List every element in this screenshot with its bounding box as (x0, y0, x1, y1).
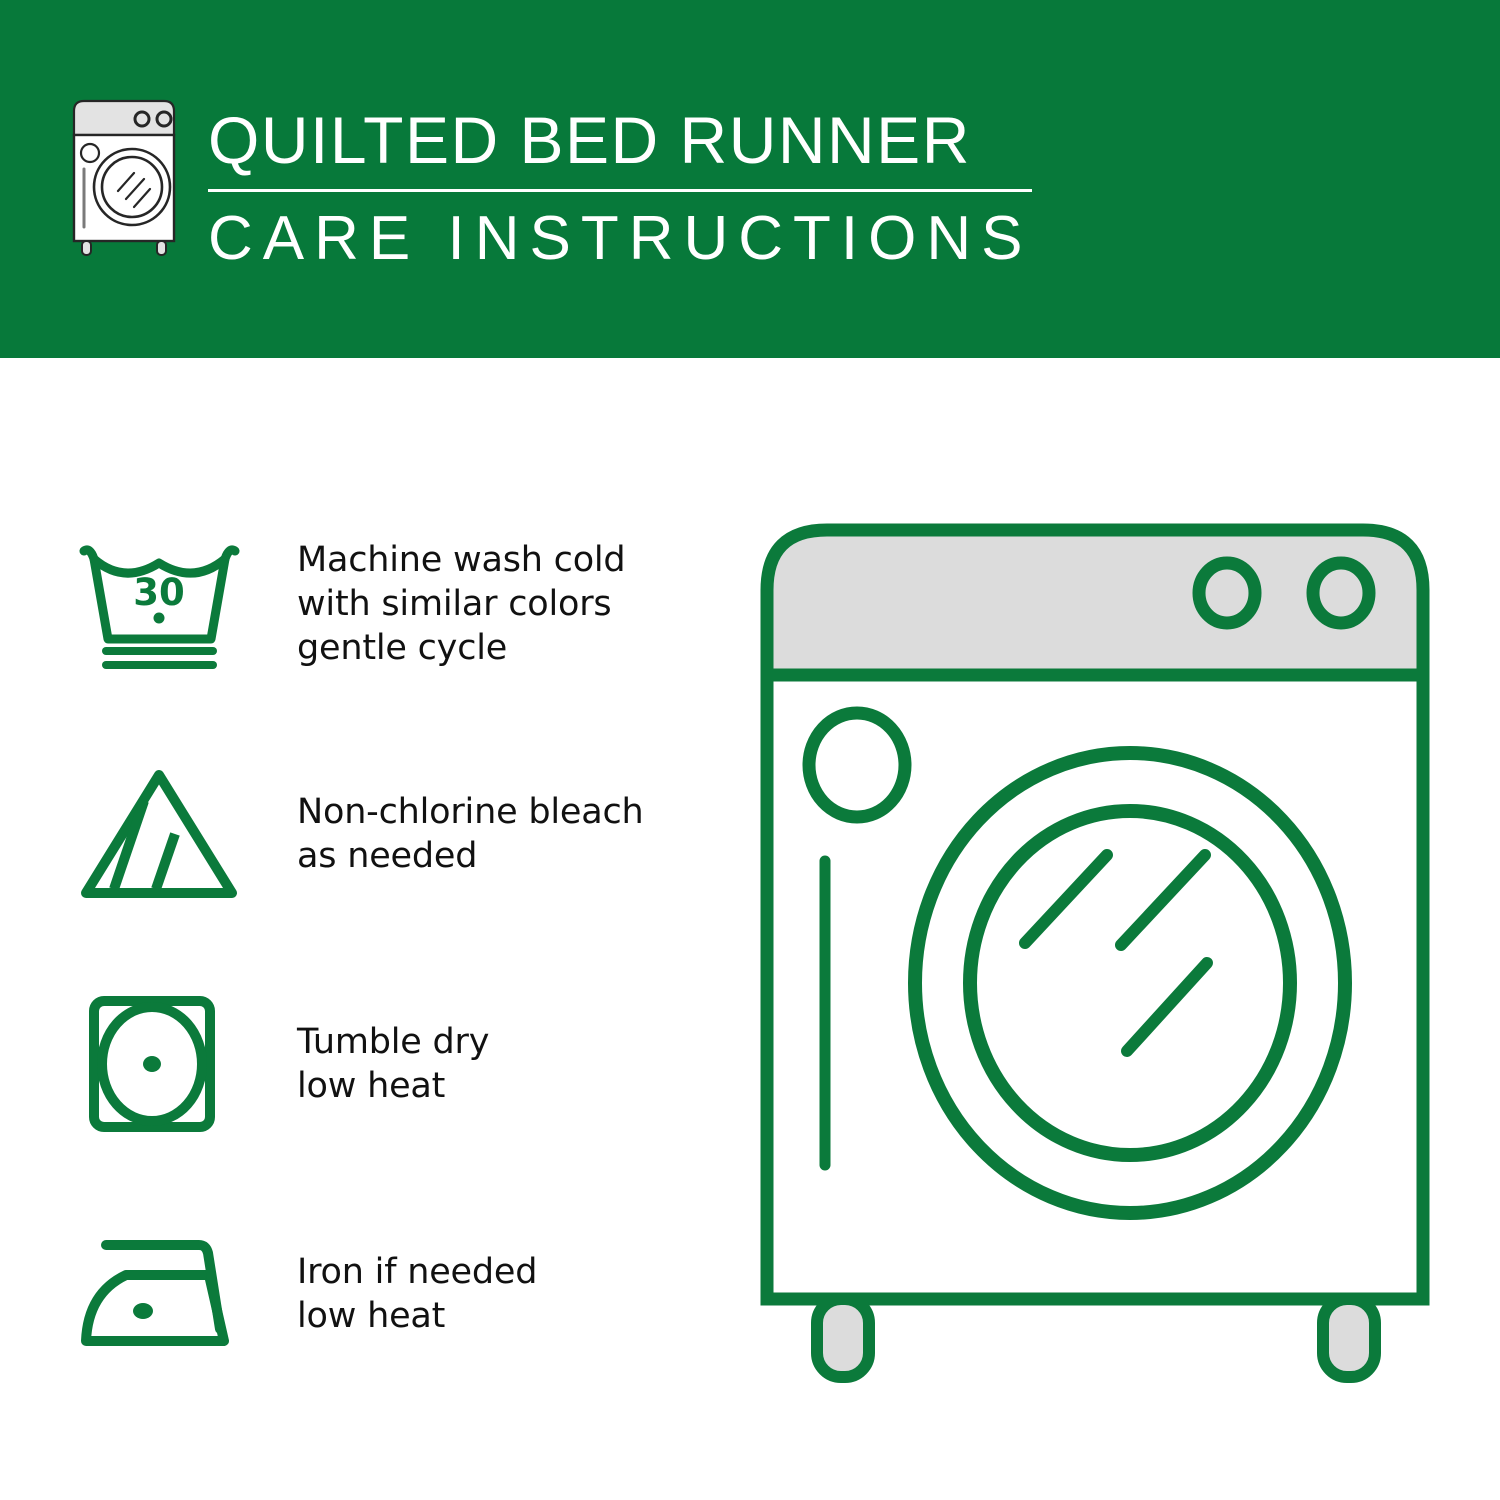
header-banner: QUILTED BED RUNNER CARE INSTRUCTIONS (0, 0, 1500, 358)
header-text-block: QUILTED BED RUNNER CARE INSTRUCTIONS (208, 95, 1032, 274)
list-item: Non-chlorine bleach as needed (72, 748, 672, 920)
washer-knob-right (1313, 563, 1369, 623)
front-load-washing-machine-illustration (735, 493, 1455, 1433)
washer-leg-left (817, 1299, 869, 1377)
list-item-label: Machine wash cold with similar colors ge… (297, 538, 625, 670)
page-subtitle: CARE INSTRUCTIONS (208, 204, 1032, 274)
care-text-line: Machine wash cold (297, 538, 625, 582)
washing-machine-icon (60, 95, 188, 263)
list-item-label: Non-chlorine bleach as needed (297, 790, 643, 878)
care-text-line: as needed (297, 834, 643, 878)
care-text-line: low heat (297, 1294, 537, 1338)
title-divider (208, 189, 1032, 192)
list-item: Tumble dry low heat (72, 978, 672, 1150)
list-item: 30 Machine wash cold with similar colors… (72, 518, 672, 690)
list-item-label: Tumble dry low heat (297, 1020, 489, 1108)
content-area: 30 Machine wash cold with similar colors… (0, 358, 1500, 1500)
list-item-label: Iron if needed low heat (297, 1250, 537, 1338)
washer-knob-left (1199, 563, 1255, 623)
care-text-line: low heat (297, 1064, 489, 1108)
care-text-line: Iron if needed (297, 1250, 537, 1294)
non-chlorine-bleach-triangle-icon (72, 759, 247, 909)
tumble-dry-low-heat-icon (72, 989, 247, 1139)
care-instruction-list: 30 Machine wash cold with similar colors… (72, 518, 672, 1380)
care-text-line: Non-chlorine bleach (297, 790, 643, 834)
care-text-line: Tumble dry (297, 1020, 489, 1064)
washer-dispenser-icon (809, 713, 905, 817)
wash-tub-30-gentle-icon: 30 (72, 529, 247, 679)
header-content: QUILTED BED RUNNER CARE INSTRUCTIONS (60, 95, 1032, 274)
iron-low-heat-icon (72, 1219, 247, 1369)
care-text-line: with similar colors (297, 582, 625, 626)
care-text-line: gentle cycle (297, 626, 625, 670)
washer-leg-right (1323, 1299, 1375, 1377)
page-title: QUILTED BED RUNNER (208, 103, 1032, 177)
wash-temperature-value: 30 (133, 571, 185, 614)
list-item: Iron if needed low heat (72, 1208, 672, 1380)
